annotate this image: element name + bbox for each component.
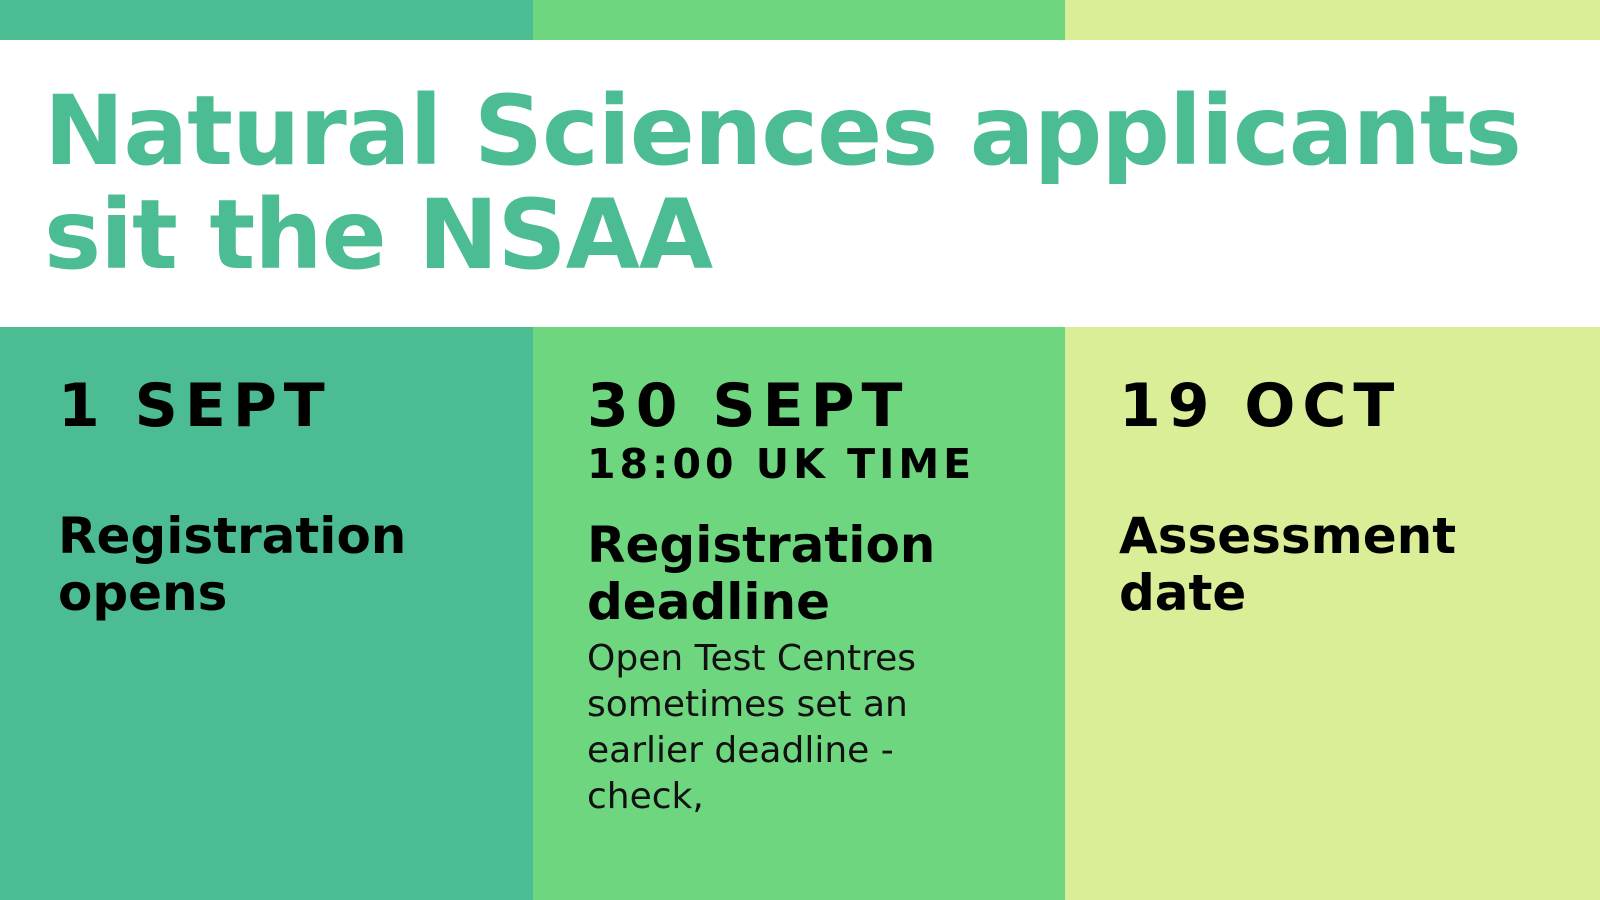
date-label: 19 OCT [1119, 375, 1570, 438]
key-dates-columns: 1 SEPT Registration opens 30 SEPT 18:00 … [0, 327, 1600, 900]
header-band: Natural Sciences applicants sit the NSAA [0, 40, 1600, 327]
date-label: 30 SEPT [587, 375, 1035, 438]
column-heading: Assessment date [1119, 508, 1570, 621]
column-heading: Registration deadline [587, 517, 1035, 630]
date-column-registration-deadline: 30 SEPT 18:00 UK TIME Registration deadl… [533, 327, 1065, 900]
page-title: Natural Sciences applicants sit the NSAA [44, 80, 1600, 287]
column-heading: Registration opens [58, 508, 503, 621]
date-label: 1 SEPT [58, 375, 503, 438]
accent-segment-teal [0, 0, 533, 40]
date-column-assessment-date: 19 OCT Assessment date [1065, 327, 1600, 900]
date-column-registration-opens: 1 SEPT Registration opens [0, 327, 533, 900]
column-note: Open Test Centres sometimes set an earli… [587, 636, 1035, 820]
accent-segment-lime [1065, 0, 1600, 40]
accent-segment-green [533, 0, 1065, 40]
top-accent-bar [0, 0, 1600, 40]
nsaa-key-dates-poster: Natural Sciences applicants sit the NSAA… [0, 0, 1600, 900]
time-label: 18:00 UK TIME [587, 442, 1035, 487]
